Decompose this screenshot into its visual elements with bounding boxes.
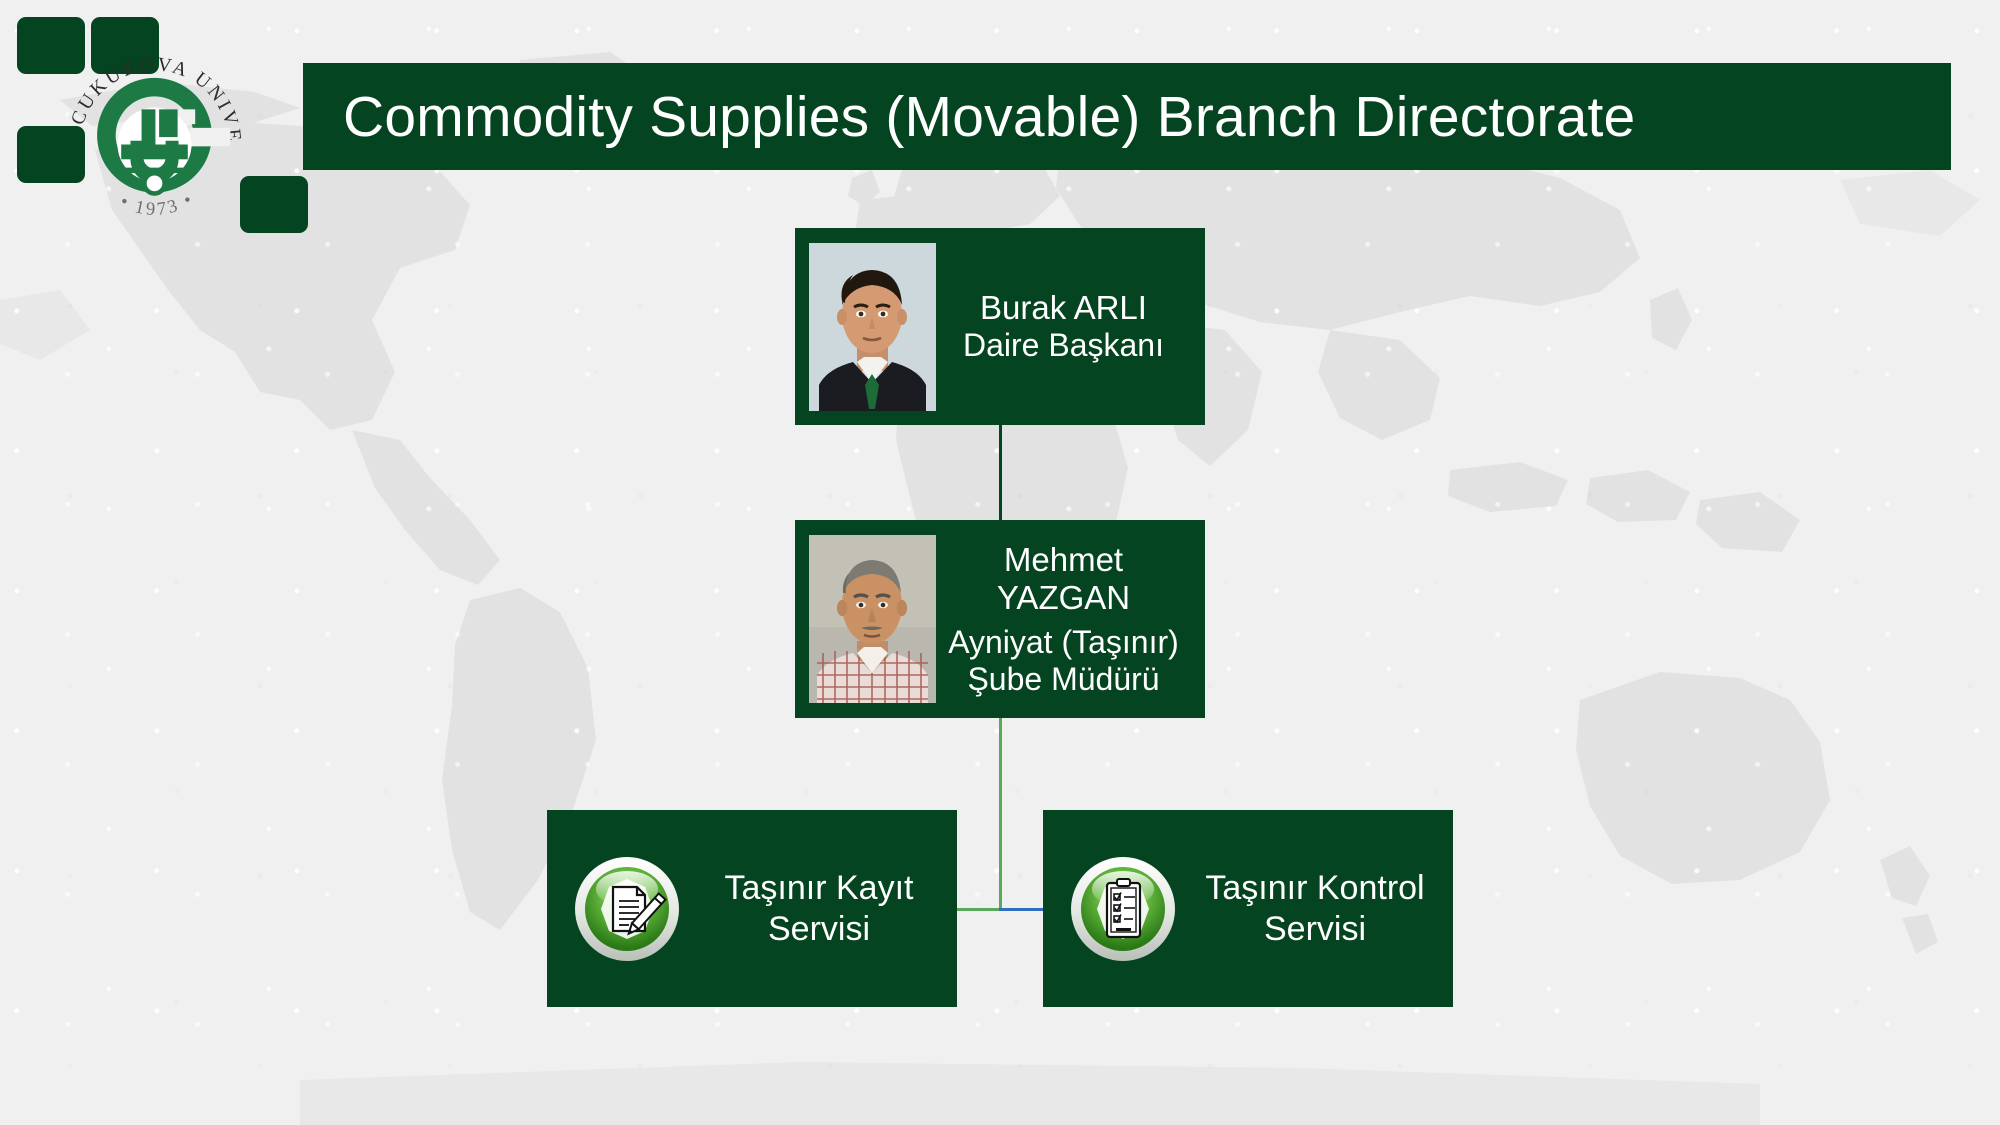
- manager-title-line2: Şube Müdürü: [942, 661, 1185, 697]
- registration-service-label: Taşınır Kayıt Servisi: [681, 868, 957, 950]
- connector-to-control-service: [999, 908, 1045, 911]
- control-service-label: Taşınır Kontrol Servisi: [1177, 868, 1453, 950]
- org-node-registration-service[interactable]: Taşınır Kayıt Servisi: [547, 810, 957, 1007]
- connector-to-registration-service: [957, 908, 1002, 911]
- head-title: Daire Başkanı: [942, 327, 1185, 363]
- head-name: Burak ARLI: [942, 289, 1185, 327]
- page-title: Commodity Supplies (Movable) Branch Dire…: [343, 84, 1635, 150]
- manager-title-line1: Ayniyat (Taşınır): [942, 624, 1185, 660]
- registration-service-line2: Servisi: [695, 909, 943, 950]
- connector-manager-trunk: [999, 718, 1002, 910]
- registration-service-line1: Taşınır Kayıt: [695, 868, 943, 909]
- manager-text-block: Mehmet YAZGAN Ayniyat (Taşınır) Şube Müd…: [936, 541, 1191, 697]
- control-service-line1: Taşınır Kontrol: [1191, 868, 1439, 909]
- org-node-head[interactable]: Burak ARLI Daire Başkanı: [795, 228, 1205, 425]
- control-service-line2: Servisi: [1191, 909, 1439, 950]
- checklist-clipboard-icon: [1069, 855, 1177, 963]
- avatar-burak-arli: [809, 243, 936, 411]
- org-node-manager[interactable]: Mehmet YAZGAN Ayniyat (Taşınır) Şube Müd…: [795, 520, 1205, 718]
- manager-name-line1: Mehmet: [942, 541, 1185, 579]
- slide-title-bar: Commodity Supplies (Movable) Branch Dire…: [303, 63, 1951, 170]
- org-node-control-service[interactable]: Taşınır Kontrol Servisi: [1043, 810, 1453, 1007]
- document-pencil-icon: [573, 855, 681, 963]
- university-logo: CUKUROVA UNIVERSITY • 1973 •: [62, 52, 247, 237]
- decorative-square-4: [240, 176, 308, 233]
- slide-canvas: CUKUROVA UNIVERSITY • 1973 •: [0, 0, 2000, 1125]
- avatar-mehmet-yazgan: [809, 535, 936, 703]
- head-text-block: Burak ARLI Daire Başkanı: [936, 289, 1191, 363]
- connector-head-to-manager: [999, 425, 1002, 520]
- manager-name-line2: YAZGAN: [942, 579, 1185, 617]
